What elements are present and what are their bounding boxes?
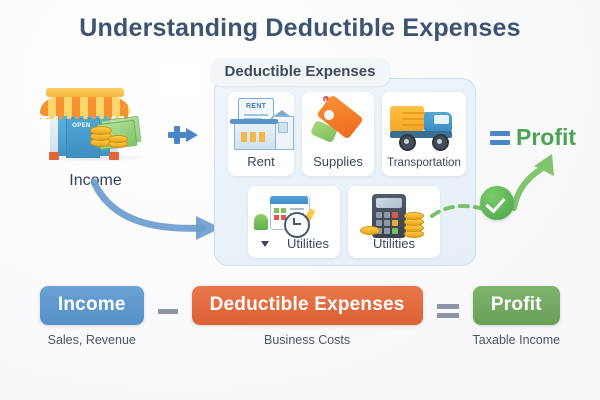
panel-title-chip: Deductible Expenses: [211, 58, 390, 86]
doc-line: [244, 114, 268, 116]
truck-wheel: [399, 134, 416, 151]
rent-document-text: RENT: [246, 103, 266, 110]
calendar-cell: [281, 208, 286, 213]
calculator-key: [376, 212, 382, 218]
building-document-icon: RENT: [228, 98, 294, 150]
income-pill[interactable]: Income: [40, 286, 144, 325]
calculator-key: [384, 220, 390, 226]
calculator-key: [384, 212, 390, 218]
calculator-key: [392, 212, 398, 218]
equals-bar: [437, 304, 459, 309]
truck-wheel: [432, 134, 449, 151]
expense-card-label: Utilities: [248, 236, 354, 251]
truck-window: [434, 115, 449, 124]
profit-up-arrow-icon: [508, 150, 566, 212]
clock-hand: [294, 223, 301, 225]
calculator-key: [392, 220, 398, 226]
building-roof: [230, 119, 278, 124]
expense-card-label: Utilities: [348, 236, 440, 251]
minus-operator-icon: [158, 309, 178, 314]
calendar-header: [270, 196, 308, 204]
coin-icon: [90, 126, 112, 135]
expense-card-label: Supplies: [302, 154, 374, 169]
coin-icon: [108, 135, 128, 143]
profit-label: Profit: [516, 124, 576, 151]
calendar-cell: [274, 215, 279, 220]
expense-card-transportation[interactable]: Transportation: [382, 92, 466, 176]
equals-bar: [490, 131, 510, 136]
expenses-caption: Business Costs: [192, 333, 423, 347]
profit-caption: Taxable Income: [473, 333, 561, 347]
expense-card-supplies[interactable]: Supplies: [302, 92, 374, 176]
expense-card-rent[interactable]: RENT Rent: [228, 92, 294, 176]
formula-item-expenses: Deductible Expenses Business Costs: [192, 286, 423, 347]
expense-card-label: Transportation: [382, 157, 466, 169]
plant-icon: [254, 214, 268, 230]
storefront-awning-top: [46, 88, 124, 97]
truck-cargo-box: [390, 106, 424, 132]
building-window: [250, 132, 256, 142]
arrow-right-icon: [186, 128, 198, 142]
house-window: [278, 122, 288, 133]
calculator-key: [392, 228, 398, 234]
coin-icon: [360, 226, 380, 235]
formula-item-profit: Profit Taxable Income: [473, 286, 561, 347]
storefront-icon: OPEN: [36, 82, 156, 160]
building-window: [241, 132, 247, 142]
calendar-cell: [274, 208, 279, 213]
calculator-key: [376, 220, 382, 226]
equals-bar: [490, 140, 510, 145]
expense-card-utilities-1[interactable]: Utilities: [248, 186, 340, 258]
equals-icon: [490, 131, 510, 145]
formula-item-income: Income Sales, Revenue: [40, 286, 144, 347]
expense-card-label: Rent: [228, 154, 294, 169]
calculator-screen: [376, 198, 402, 208]
check-circle-icon: [480, 186, 514, 220]
income-block: OPEN Income: [28, 82, 163, 190]
profit-pill[interactable]: Profit: [473, 286, 560, 325]
plus-icon: [168, 126, 186, 144]
income-caption: Sales, Revenue: [40, 333, 144, 347]
equals-operator-icon: [437, 304, 459, 320]
calendar-line: [290, 208, 304, 210]
storefront-pillar-base-left: [49, 152, 59, 160]
curved-arrow-icon: [90, 178, 230, 240]
infographic-canvas: Understanding Deductible Expenses OPEN I…: [0, 0, 600, 400]
price-tag-icon: [302, 98, 374, 150]
building-window: [259, 132, 265, 142]
storefront-pillar-base-right: [109, 152, 119, 160]
equals-bar: [437, 313, 459, 318]
delivery-truck-icon: [382, 98, 466, 150]
expenses-pill[interactable]: Deductible Expenses: [192, 286, 423, 325]
calculator-key: [384, 228, 390, 234]
page-title: Understanding Deductible Expenses: [0, 14, 600, 43]
coin-icon: [404, 212, 424, 220]
clock-face: [284, 212, 310, 238]
formula-row: Income Sales, Revenue Deductible Expense…: [0, 286, 600, 347]
expense-card-utilities-2[interactable]: Utilities: [348, 186, 440, 258]
